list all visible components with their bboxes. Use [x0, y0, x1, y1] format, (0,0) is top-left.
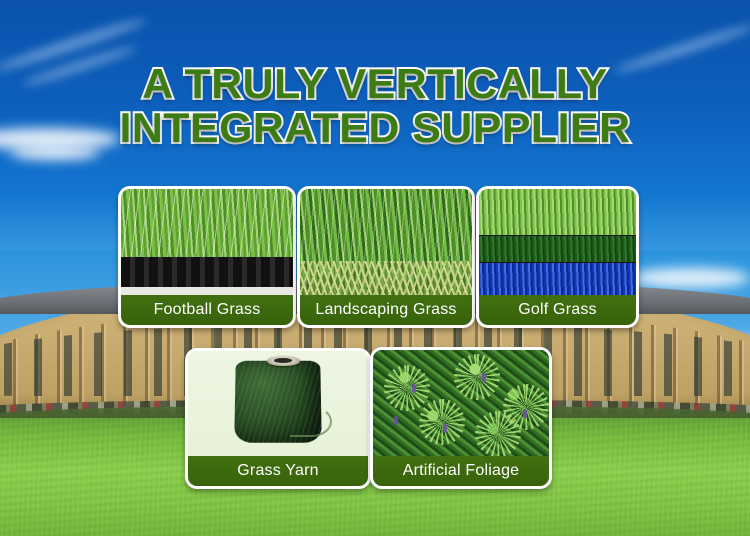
card-label-landscaping-grass: Landscaping Grass: [300, 295, 472, 325]
football-grass-image: [121, 189, 293, 295]
card-label-football-grass: Football Grass: [121, 295, 293, 325]
cloud: [630, 268, 750, 288]
card-label-golf-grass: Golf Grass: [479, 295, 636, 325]
product-card-football-grass[interactable]: Football Grass: [118, 186, 296, 328]
product-card-artificial-foliage[interactable]: Artificial Foliage: [370, 347, 552, 489]
golf-grass-image: [479, 189, 636, 295]
product-card-golf-grass[interactable]: Golf Grass: [476, 186, 639, 328]
product-card-grass-yarn[interactable]: Grass Yarn: [185, 348, 371, 489]
berry: [482, 373, 486, 382]
headline-line-1: A TRULY VERTICALLY: [0, 62, 750, 106]
headline-line-2: INTEGRATED SUPPLIER: [0, 106, 750, 150]
leaf-frond: [475, 411, 521, 456]
artificial-foliage-image: [373, 350, 549, 456]
leaf-frond: [384, 365, 430, 411]
card-label-grass-yarn: Grass Yarn: [188, 456, 368, 486]
banner-headline: A TRULY VERTICALLY INTEGRATED SUPPLIER: [0, 62, 750, 150]
product-card-landscaping-grass[interactable]: Landscaping Grass: [297, 186, 475, 328]
leaf-frond: [454, 354, 500, 400]
leaf-frond: [419, 399, 465, 445]
card-label-artificial-foliage: Artificial Foliage: [373, 456, 549, 486]
berry: [523, 409, 527, 418]
berry: [412, 384, 416, 393]
promo-banner: A TRULY VERTICALLY INTEGRATED SUPPLIER F…: [0, 0, 750, 536]
berry: [443, 424, 447, 433]
landscaping-grass-image: [300, 189, 472, 295]
yarn-strand: [290, 406, 332, 437]
grass-yarn-image: [188, 351, 368, 456]
berry: [394, 416, 398, 425]
